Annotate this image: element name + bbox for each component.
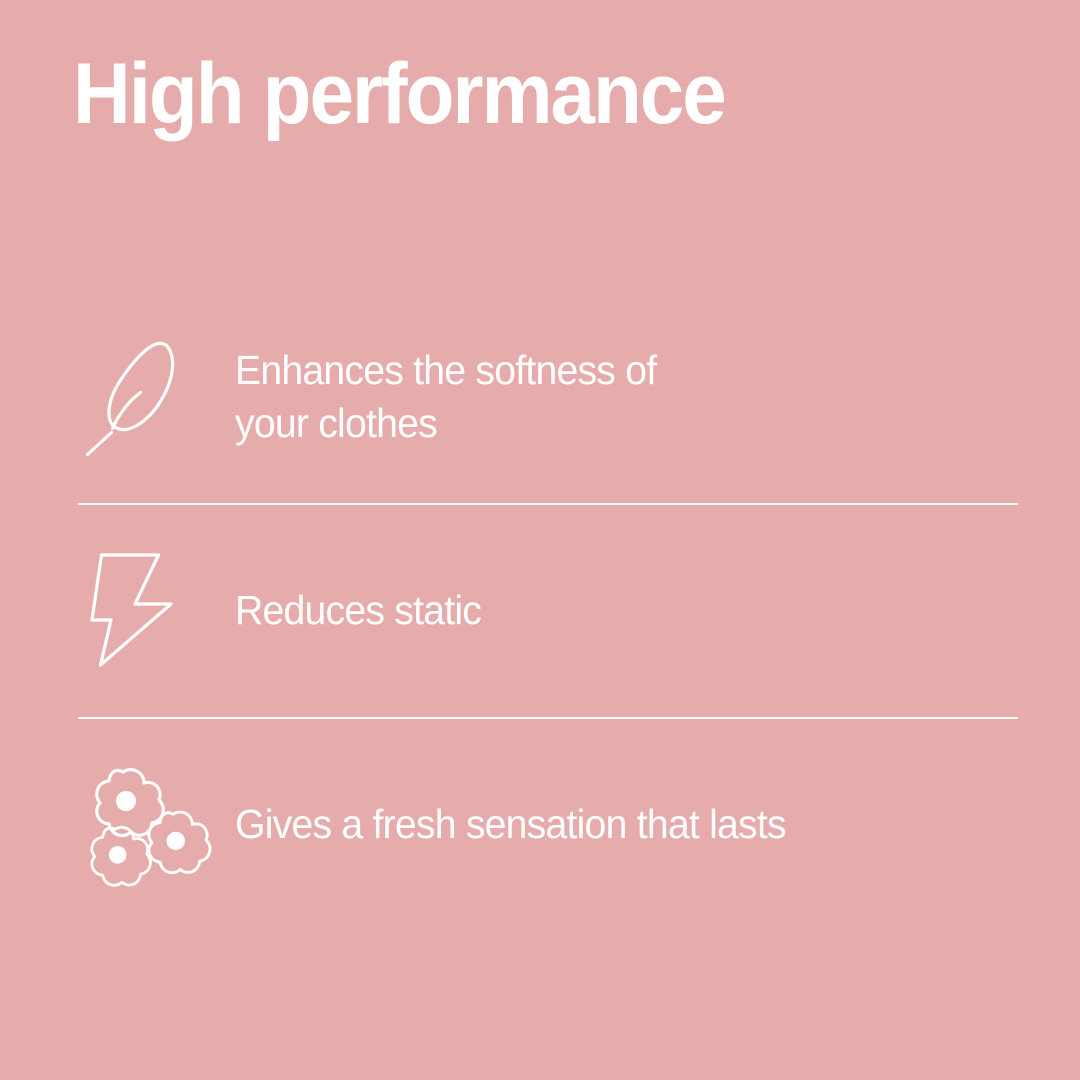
- feature-text-freshness: Gives a fresh sensation that lasts: [235, 798, 786, 851]
- lightning-bolt-icon: [78, 545, 203, 675]
- feature-row-static: Reduces static: [0, 503, 1080, 717]
- feature-list: Enhances the softness of your clothes Re…: [0, 290, 1080, 931]
- page-title: High performance: [73, 44, 947, 144]
- divider-2: [78, 717, 1018, 719]
- flowers-icon: [78, 759, 203, 889]
- divider-1: [78, 503, 1018, 505]
- feature-text-softness: Enhances the softness of your clothes: [235, 344, 656, 450]
- promo-card: High performance Enhances the softness o…: [0, 0, 1080, 1080]
- feather-icon: [78, 332, 203, 462]
- feature-row-freshness: Gives a fresh sensation that lasts: [0, 717, 1080, 931]
- feature-text-static: Reduces static: [235, 584, 481, 637]
- feature-row-softness: Enhances the softness of your clothes: [0, 290, 1080, 503]
